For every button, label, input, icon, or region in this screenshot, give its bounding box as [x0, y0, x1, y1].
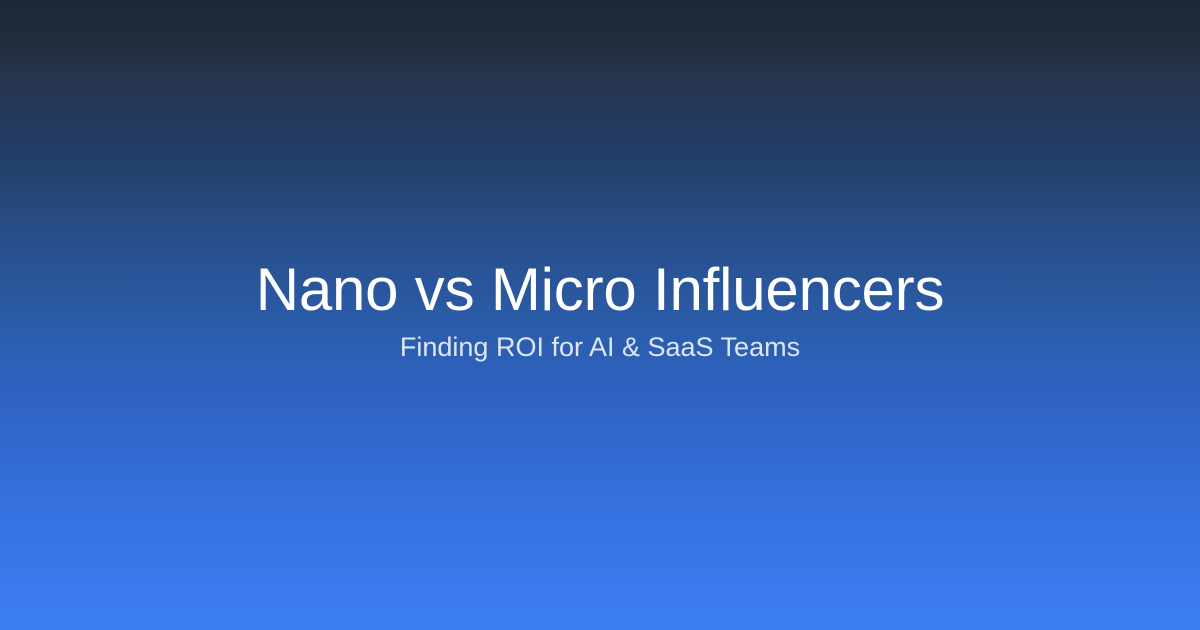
hero-text-block: Nano vs Micro Influencers Finding ROI fo… — [0, 258, 1200, 363]
page-subtitle: Finding ROI for AI & SaaS Teams — [400, 331, 800, 363]
social-share-card: Nano vs Micro Influencers Finding ROI fo… — [0, 0, 1200, 630]
page-title: Nano vs Micro Influencers — [256, 258, 945, 323]
